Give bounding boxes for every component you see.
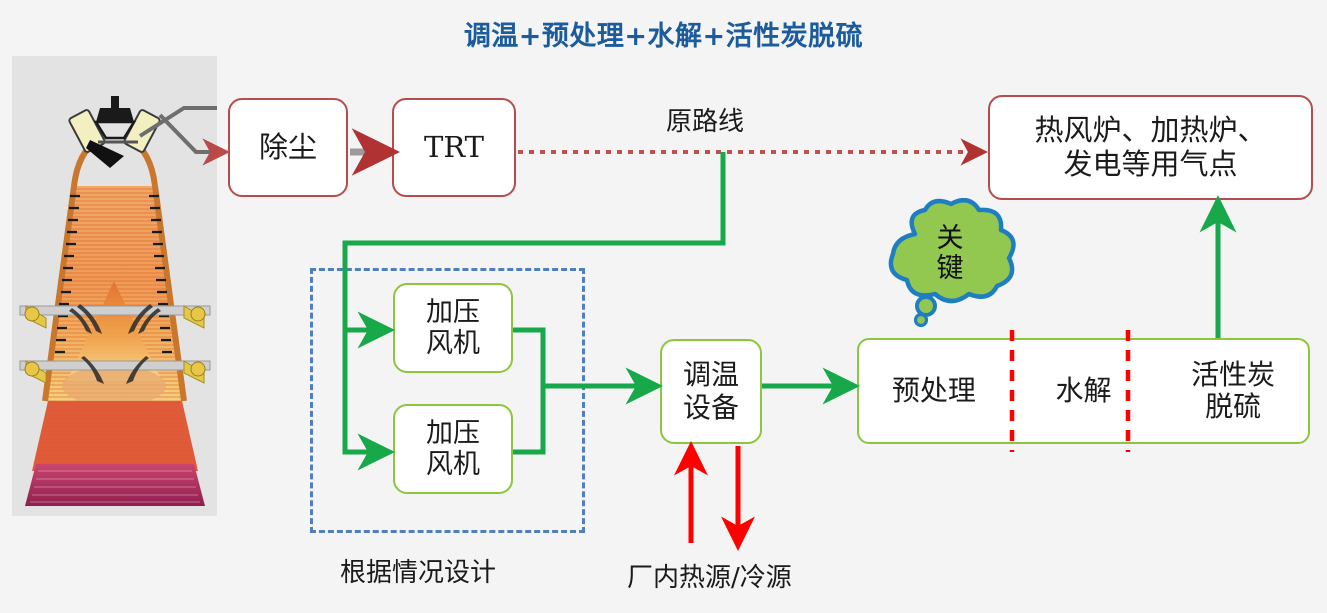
connector-fans-merge-to-temp	[513, 330, 654, 452]
connector-route-tap-to-fans	[345, 152, 723, 330]
connector-furnace-to-dedusting	[160, 115, 222, 152]
connector-split-to-fan2	[345, 330, 386, 452]
connector-layer	[0, 0, 1327, 613]
diagram-canvas: 调温+预处理+水解+活性炭脱硫	[0, 0, 1327, 613]
